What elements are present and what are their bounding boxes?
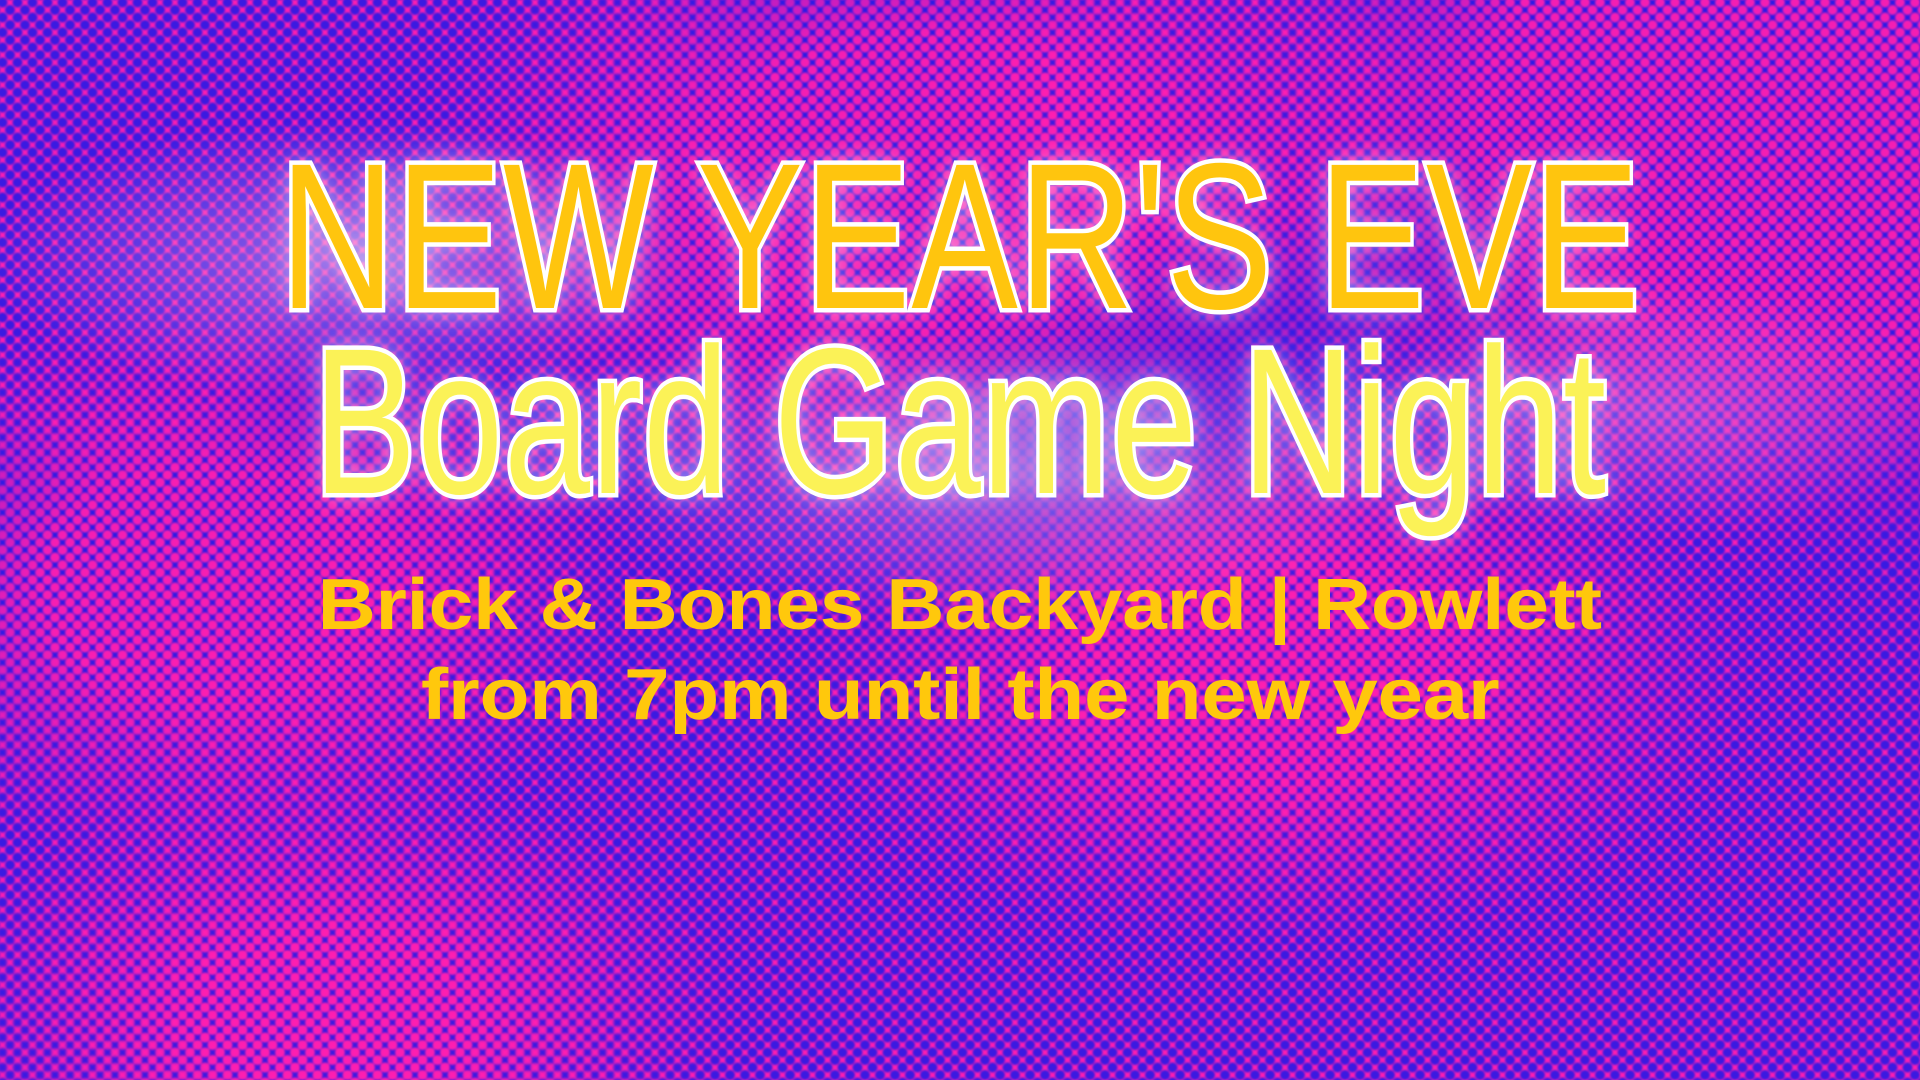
headline-line-1: NEW YEAR'S EVE xyxy=(223,148,1697,327)
subtitle-time: from 7pm until the new year xyxy=(421,654,1499,736)
poster-content: NEW YEAR'S EVE Board Game Night Brick & … xyxy=(0,0,1920,1080)
subtitle-venue-location: Brick & Bones Backyard | Rowlett xyxy=(318,564,1602,646)
headline-line-2: Board Game Night xyxy=(246,333,1674,512)
event-poster: NEW YEAR'S EVE Board Game Night Brick & … xyxy=(0,0,1920,1080)
